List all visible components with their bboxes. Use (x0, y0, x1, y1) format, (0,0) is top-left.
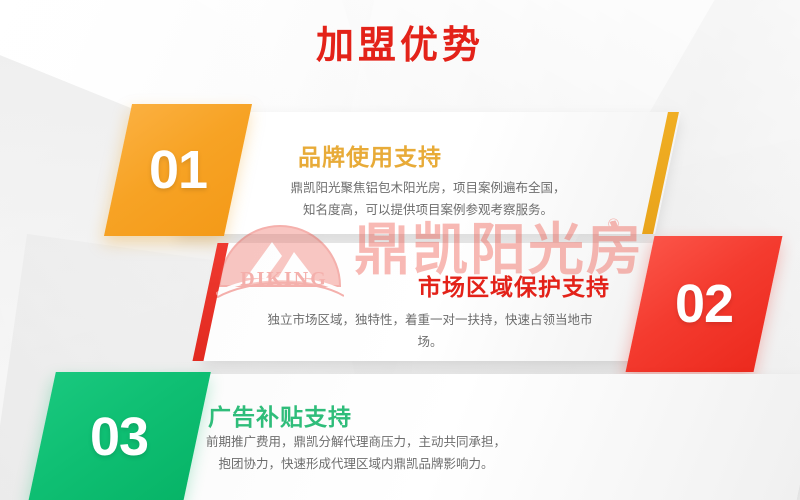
card-number-block-03: 03 (28, 372, 211, 500)
card-body-03: 前期推广费用，鼎凯分解代理商压力，主动共同承担，抱团协力，快速形成代理区域内鼎凯… (186, 432, 526, 476)
card-heading-01: 品牌使用支持 (298, 138, 442, 172)
card-number-01: 01 (149, 143, 207, 197)
card-number-02: 02 (675, 277, 733, 331)
card-number-03: 03 (90, 410, 148, 464)
page-title: 加盟优势 (0, 14, 800, 69)
card-heading-03: 广告补贴支持 (208, 398, 352, 432)
infographic-stage: 加盟优势 01 品牌使用支持 鼎凯阳光聚焦铝包木阳光房，项目案例遍布全国，知名度… (0, 0, 800, 500)
card-heading-02: 市场区域保护支持 (418, 268, 610, 302)
card-body-02: 独立市场区域，独特性，着重一对一扶持，快速占领当地市场。 (260, 310, 600, 354)
card-body-01: 鼎凯阳光聚焦铝包木阳光房，项目案例遍布全国，知名度高，可以提供项目案例参观考察服… (258, 178, 598, 222)
